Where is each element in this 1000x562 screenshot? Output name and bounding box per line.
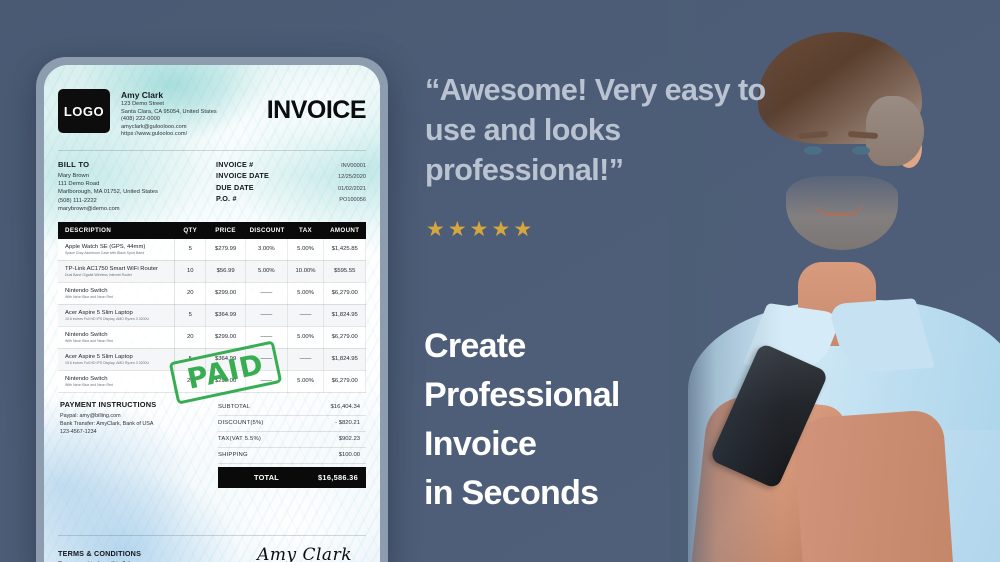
sender-email[interactable]: amyclark@guloolooo.com <box>121 124 267 132</box>
cell-price: $364.99 <box>206 304 246 326</box>
cell-tax: —— <box>287 304 324 326</box>
item-title: TP-Link AC1750 Smart WiFi Router <box>65 265 172 273</box>
item-title: Nintendo Switch <box>65 287 172 295</box>
photo-smartphone-in-hand <box>709 342 829 489</box>
cell-amount: $1,824.95 <box>324 348 366 370</box>
cell-qty: 20 <box>175 370 206 392</box>
col-header-amount: AMOUNT <box>324 222 366 239</box>
total-value: $902.23 <box>339 436 360 442</box>
phone-screen: LOGO Amy Clark 123 Demo Street Santa Cla… <box>44 65 380 562</box>
total-label: TAX(VAT 5.5%) <box>218 436 261 442</box>
testimonial-quote: “Awesome! Very easy to use and looks pro… <box>425 70 785 190</box>
col-header-qty: QTY <box>175 222 206 239</box>
cell-qty: 5 <box>175 239 206 261</box>
meta-label: P.O. # <box>216 194 237 205</box>
item-subtitle: 15.6 inches Full HD IPS Display, AMD Ryz… <box>65 317 172 322</box>
cell-price: $279.99 <box>206 239 246 261</box>
meta-row-po-number: P.O. # PO100056 <box>216 194 366 206</box>
payment-bank-transfer: Bank Transfer: AmyClark, Bank of USA <box>60 420 218 428</box>
cell-tax: 5.00% <box>287 326 324 348</box>
item-title: Acer Aspire 5 Slim Laptop <box>65 353 172 361</box>
photo-collar-right <box>827 298 935 373</box>
cell-discount: —— <box>246 282 288 304</box>
payment-instructions-block: PAYMENT INSTRUCTIONS Paypal: amy@billing… <box>58 400 218 488</box>
line-items-table: DESCRIPTION QTY PRICE DISCOUNT TAX AMOUN… <box>58 222 366 393</box>
cell-price: $364.99 <box>206 348 246 370</box>
cell-amount: $6,279.00 <box>324 370 366 392</box>
photo-collar-left <box>743 303 843 375</box>
cell-discount: —— <box>246 348 288 370</box>
star-icon: ★ <box>426 219 445 240</box>
cell-qty: 20 <box>175 326 206 348</box>
total-value: $16,404.34 <box>331 404 360 410</box>
item-title: Apple Watch SE (GPS, 44mm) <box>65 243 172 251</box>
col-header-description: DESCRIPTION <box>58 222 175 239</box>
photo-ear <box>896 128 922 168</box>
invoice-header: LOGO Amy Clark 123 Demo Street Santa Cla… <box>58 65 366 139</box>
terms-heading: TERMS & CONDITIONS <box>58 549 141 558</box>
signature: Amy Clark <box>257 545 352 562</box>
total-label: SHIPPING <box>218 452 248 458</box>
cell-description: Nintendo SwitchWith Neon Blue and Neon R… <box>58 282 175 304</box>
meta-label: INVOICE DATE <box>216 171 269 182</box>
cell-price: $299.00 <box>206 370 246 392</box>
total-label: SUBTOTAL <box>218 404 250 410</box>
star-icon: ★ <box>491 219 510 240</box>
cell-amount: $1,425.85 <box>324 239 366 261</box>
bill-to-phone: (508) 111-2222 <box>58 197 208 205</box>
terms-row: TERMS & CONDITIONS The payment is due wi… <box>58 545 366 562</box>
photo-shirt <box>688 300 1000 562</box>
total-value: $100.00 <box>339 452 360 458</box>
terms-text-block: TERMS & CONDITIONS The payment is due wi… <box>58 549 141 562</box>
star-icon: ★ <box>448 219 467 240</box>
cell-amount: $1,824.95 <box>324 304 366 326</box>
sender-block: Amy Clark 123 Demo Street Santa Clara, C… <box>121 89 267 139</box>
total-row-discount: DISCOUNT(5%) - $820.21 <box>218 416 366 432</box>
headline-line: Professional <box>424 371 724 420</box>
photo-neck <box>798 262 876 346</box>
table-row: Acer Aspire 5 Slim Laptop15.6 inches Ful… <box>58 304 366 326</box>
totals-block: SUBTOTAL $16,404.34 DISCOUNT(5%) - $820.… <box>218 400 366 488</box>
item-subtitle: With Neon Blue and Neon Red <box>65 339 172 344</box>
company-logo[interactable]: LOGO <box>58 89 110 133</box>
cell-description: TP-Link AC1750 Smart WiFi RouterDual Ban… <box>58 260 175 282</box>
total-row-grand-total: TOTAL $16,586.36 <box>218 467 366 488</box>
total-label: DISCOUNT(5%) <box>218 420 264 426</box>
cell-price: $56.99 <box>206 260 246 282</box>
photo-sleeve-cuff <box>876 430 1000 562</box>
table-row: Acer Aspire 5 Slim Laptop15.6 inches Ful… <box>58 348 366 370</box>
photo-beard <box>786 176 898 250</box>
cell-discount: —— <box>246 326 288 348</box>
total-value: - $820.21 <box>335 420 360 426</box>
star-icon: ★ <box>513 219 532 240</box>
meta-value: INV00001 <box>341 161 366 172</box>
phone-mockup: LOGO Amy Clark 123 Demo Street Santa Cla… <box>36 57 388 562</box>
terms-section: TERMS & CONDITIONS The payment is due wi… <box>58 535 366 562</box>
photo-arm-right <box>793 409 954 562</box>
cell-price: $299.00 <box>206 282 246 304</box>
photo-smile <box>814 200 864 216</box>
photo-eyebrow-left <box>798 131 828 140</box>
table-row: Nintendo SwitchWith Neon Blue and Neon R… <box>58 326 366 348</box>
sender-address-line: 123 Demo Street <box>121 101 267 109</box>
cell-description: Nintendo SwitchWith Neon Blue and Neon R… <box>58 326 175 348</box>
grand-total-value: $16,586.36 <box>318 473 358 482</box>
invoice-meta-block: INVOICE # INV00001 INVOICE DATE 12/25/20… <box>216 160 366 206</box>
headline-line: in Seconds <box>424 469 724 518</box>
col-header-discount: DISCOUNT <box>246 222 288 239</box>
cell-discount: —— <box>246 304 288 326</box>
sender-website[interactable]: https://www.gulooloo.com/ <box>121 131 267 139</box>
cell-qty: 20 <box>175 282 206 304</box>
invoice-title: INVOICE <box>267 97 366 123</box>
star-icon: ★ <box>470 219 489 240</box>
col-header-tax: TAX <box>287 222 324 239</box>
cell-qty: 10 <box>175 260 206 282</box>
meta-label: DUE DATE <box>216 183 254 194</box>
photo-eye-right <box>852 146 870 155</box>
headline-line: Create <box>424 322 724 371</box>
cell-amount: $6,279.00 <box>324 326 366 348</box>
marketing-headline: Create Professional Invoice in Seconds <box>424 322 724 518</box>
col-header-price: PRICE <box>206 222 246 239</box>
table-row: Apple Watch SE (GPS, 44mm)Space Gray Alu… <box>58 239 366 261</box>
table-row: Nintendo SwitchWith Neon Blue and Neon R… <box>58 370 366 392</box>
total-row-shipping: SHIPPING $100.00 <box>218 448 366 464</box>
cell-description: Apple Watch SE (GPS, 44mm)Space Gray Alu… <box>58 239 175 261</box>
photo-head <box>766 46 914 246</box>
terms-divider <box>58 535 366 536</box>
rating-stars: ★ ★ ★ ★ ★ <box>426 219 532 240</box>
payment-account-number: 123-4567-1234 <box>60 428 218 436</box>
cell-qty: 5 <box>175 304 206 326</box>
invoice-summary: PAYMENT INSTRUCTIONS Paypal: amy@billing… <box>58 400 366 488</box>
bill-to-address-line: Marlborough, MA 01752, United States <box>58 188 208 196</box>
cell-description: Acer Aspire 5 Slim Laptop15.6 inches Ful… <box>58 304 175 326</box>
meta-value: 01/02/2021 <box>338 184 366 195</box>
meta-value: PO100056 <box>339 195 366 206</box>
header-divider <box>58 150 366 151</box>
meta-row-due-date: DUE DATE 01/02/2021 <box>216 183 366 195</box>
cell-description: Nintendo SwitchWith Neon Blue and Neon R… <box>58 370 175 392</box>
cell-description: Acer Aspire 5 Slim Laptop15.6 inches Ful… <box>58 348 175 370</box>
table-row: TP-Link AC1750 Smart WiFi RouterDual Ban… <box>58 260 366 282</box>
item-subtitle: With Neon Blue and Neon Red <box>65 383 172 388</box>
item-subtitle: 15.6 inches Full HD IPS Display, AMD Ryz… <box>65 361 172 366</box>
bill-to-name: Mary Brown <box>58 172 208 180</box>
payment-instructions-heading: PAYMENT INSTRUCTIONS <box>60 400 218 409</box>
total-row-tax: TAX(VAT 5.5%) $902.23 <box>218 432 366 448</box>
cell-amount: $595.55 <box>324 260 366 282</box>
cell-tax: 5.00% <box>287 370 324 392</box>
cell-discount: 3.00% <box>246 239 288 261</box>
item-subtitle: With Neon Blue and Neon Red <box>65 295 172 300</box>
sender-phone: (408) 222-0000 <box>121 116 267 124</box>
table-row: Nintendo SwitchWith Neon Blue and Neon R… <box>58 282 366 304</box>
bill-to-heading: BILL TO <box>58 160 208 169</box>
photo-eyebrow-right <box>848 131 878 139</box>
meta-row-invoice-date: INVOICE DATE 12/25/2020 <box>216 171 366 183</box>
photo-eye-left <box>804 146 822 155</box>
photo-sideburn <box>866 96 924 166</box>
bill-to-block: BILL TO Mary Brown 111 Demo Road Marlbor… <box>58 160 208 213</box>
item-subtitle: Dual Band Gigabit Wireless Internet Rout… <box>65 273 172 278</box>
cell-amount: $6,279.00 <box>324 282 366 304</box>
meta-row-invoice-number: INVOICE # INV00001 <box>216 160 366 172</box>
cell-tax: 5.00% <box>287 282 324 304</box>
bill-to-address-line: 111 Demo Road <box>58 180 208 188</box>
headline-line: Invoice <box>424 420 724 469</box>
cell-tax: —— <box>287 348 324 370</box>
item-title: Nintendo Switch <box>65 375 172 383</box>
grand-total-label: TOTAL <box>224 473 279 482</box>
sender-address-line: Santa Clara, CA 95054, United States <box>121 109 267 117</box>
item-title: Acer Aspire 5 Slim Laptop <box>65 309 172 317</box>
item-title: Nintendo Switch <box>65 331 172 339</box>
total-row-subtotal: SUBTOTAL $16,404.34 <box>218 400 366 416</box>
meta-value: 12/25/2020 <box>338 172 366 183</box>
cell-tax: 5.00% <box>287 239 324 261</box>
bill-to-email: marybrown@demo.com <box>58 205 208 213</box>
meta-label: INVOICE # <box>216 160 253 171</box>
cell-tax: 10.00% <box>287 260 324 282</box>
line-items-body: Apple Watch SE (GPS, 44mm)Space Gray Alu… <box>58 239 366 393</box>
sender-name: Amy Clark <box>121 89 267 101</box>
cell-price: $299.00 <box>206 326 246 348</box>
payment-paypal: Paypal: amy@billing.com <box>60 412 218 420</box>
cell-qty: 5 <box>175 348 206 370</box>
table-header-row: DESCRIPTION QTY PRICE DISCOUNT TAX AMOUN… <box>58 222 366 239</box>
cell-discount: 5.00% <box>246 260 288 282</box>
item-subtitle: Space Gray Aluminum Case with Black Spor… <box>65 251 172 256</box>
invoice-parties: BILL TO Mary Brown 111 Demo Road Marlbor… <box>58 160 366 213</box>
cell-discount: —— <box>246 370 288 392</box>
invoice-document: LOGO Amy Clark 123 Demo Street Santa Cla… <box>44 65 380 562</box>
